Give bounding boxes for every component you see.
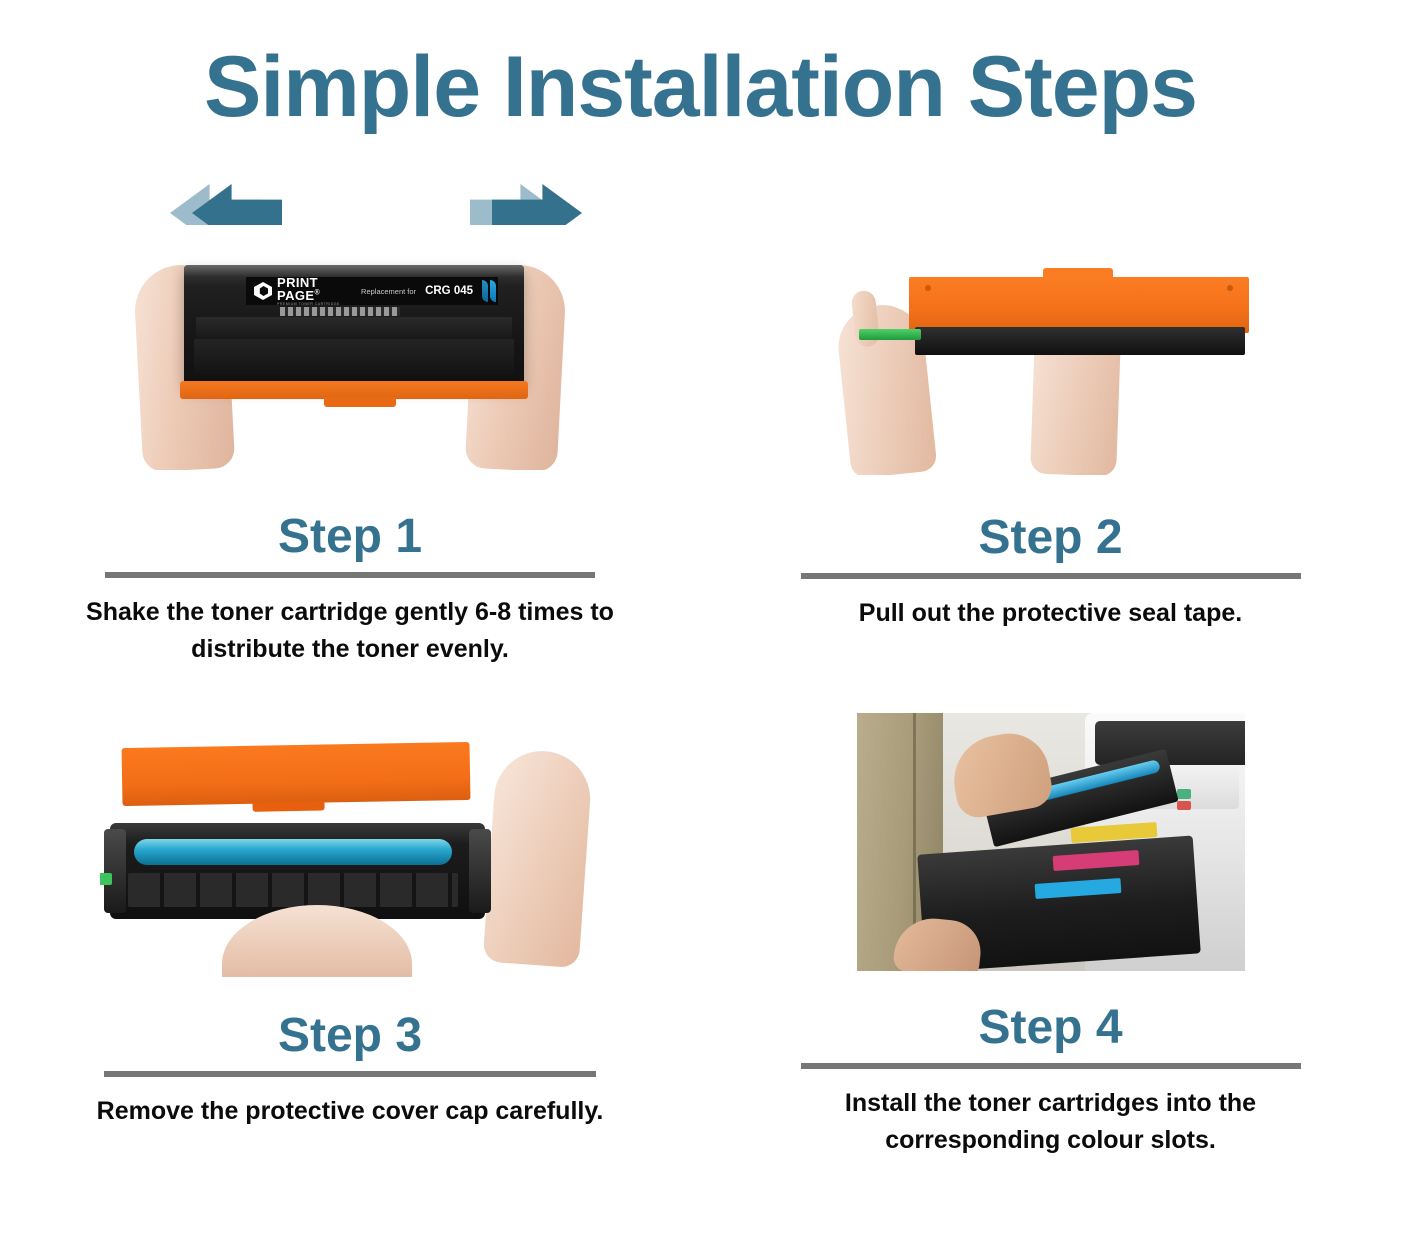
step-2-description: Pull out the protective seal tape.	[781, 595, 1321, 631]
cartridge-ribs	[128, 873, 458, 907]
seal-tape-stub	[100, 873, 112, 885]
brand-block: PRINT PAGE® PREMIUM TONER CARTRIDGE	[277, 277, 353, 305]
toner-cartridge-with-cover	[909, 277, 1249, 367]
printer-top-cover	[1095, 721, 1245, 765]
brand-tagline: PREMIUM TONER CARTRIDGE	[277, 303, 353, 305]
stop-key-icon	[1177, 801, 1191, 810]
cartridge-black-body	[915, 327, 1245, 355]
orange-cover-nub	[1043, 268, 1113, 280]
product-label: PRINT PAGE® PREMIUM TONER CARTRIDGE Repl…	[246, 277, 498, 305]
step-1-photo: PRINT PAGE® PREMIUM TONER CARTRIDGE Repl…	[80, 225, 620, 470]
page-title: Simple Installation Steps	[0, 0, 1401, 130]
step-1-heading: Step 1	[278, 512, 422, 562]
step-3-heading: Step 3	[278, 1011, 422, 1061]
replacement-text: Replacement for	[361, 287, 416, 296]
step-2-divider	[801, 573, 1301, 579]
step-4-divider	[801, 1063, 1301, 1069]
cartridge-end-cap-right	[469, 829, 491, 913]
step-4-photo	[857, 713, 1245, 971]
toner-cartridge-open	[110, 823, 485, 919]
orange-protective-cover	[909, 277, 1249, 333]
step-3-divider	[104, 1071, 596, 1077]
step-2-heading: Step 2	[978, 513, 1122, 563]
cartridge-vent	[280, 307, 400, 316]
green-seal-tape	[859, 329, 921, 340]
step-4-heading: Step 4	[978, 1003, 1122, 1053]
cover-screw	[1227, 285, 1233, 291]
cyan-drum-roller	[134, 839, 452, 865]
steps-grid: PRINT PAGE® PREMIUM TONER CARTRIDGE Repl…	[0, 225, 1401, 1235]
step-3-description: Remove the protective cover cap carefull…	[25, 1093, 675, 1129]
cartridge-top-rail	[184, 265, 524, 277]
hand-right	[483, 748, 594, 968]
step-card-4: Step 4 Install the toner cartridges into…	[700, 705, 1401, 1215]
step-4-description: Install the toner cartridges into the co…	[781, 1085, 1321, 1158]
cover-screw	[925, 285, 931, 291]
orange-protective-cap	[122, 742, 471, 806]
step-card-1: PRINT PAGE® PREMIUM TONER CARTRIDGE Repl…	[0, 225, 700, 705]
brand-name: PRINT PAGE®	[277, 277, 353, 302]
cartridge-orange-tab	[324, 397, 396, 407]
cartridge-body-face	[194, 339, 514, 375]
print-page-logo-icon	[254, 282, 272, 300]
model-number: CRG 045	[425, 285, 473, 297]
toner-cartridge: PRINT PAGE® PREMIUM TONER CARTRIDGE Repl…	[184, 265, 524, 385]
step-2-photo	[821, 225, 1281, 475]
step-card-2: Step 2 Pull out the protective seal tape…	[700, 225, 1401, 705]
cap-notch	[252, 802, 324, 812]
step-1-description: Shake the toner cartridge gently 6-8 tim…	[70, 594, 630, 667]
start-key-icon	[1177, 789, 1191, 799]
step-1-divider	[105, 572, 595, 578]
swoosh-icon	[482, 279, 498, 303]
step-3-photo	[100, 727, 600, 977]
cartridge-end-cap-left	[104, 829, 126, 913]
step-card-3: Step 3 Remove the protective cover cap c…	[0, 705, 700, 1215]
